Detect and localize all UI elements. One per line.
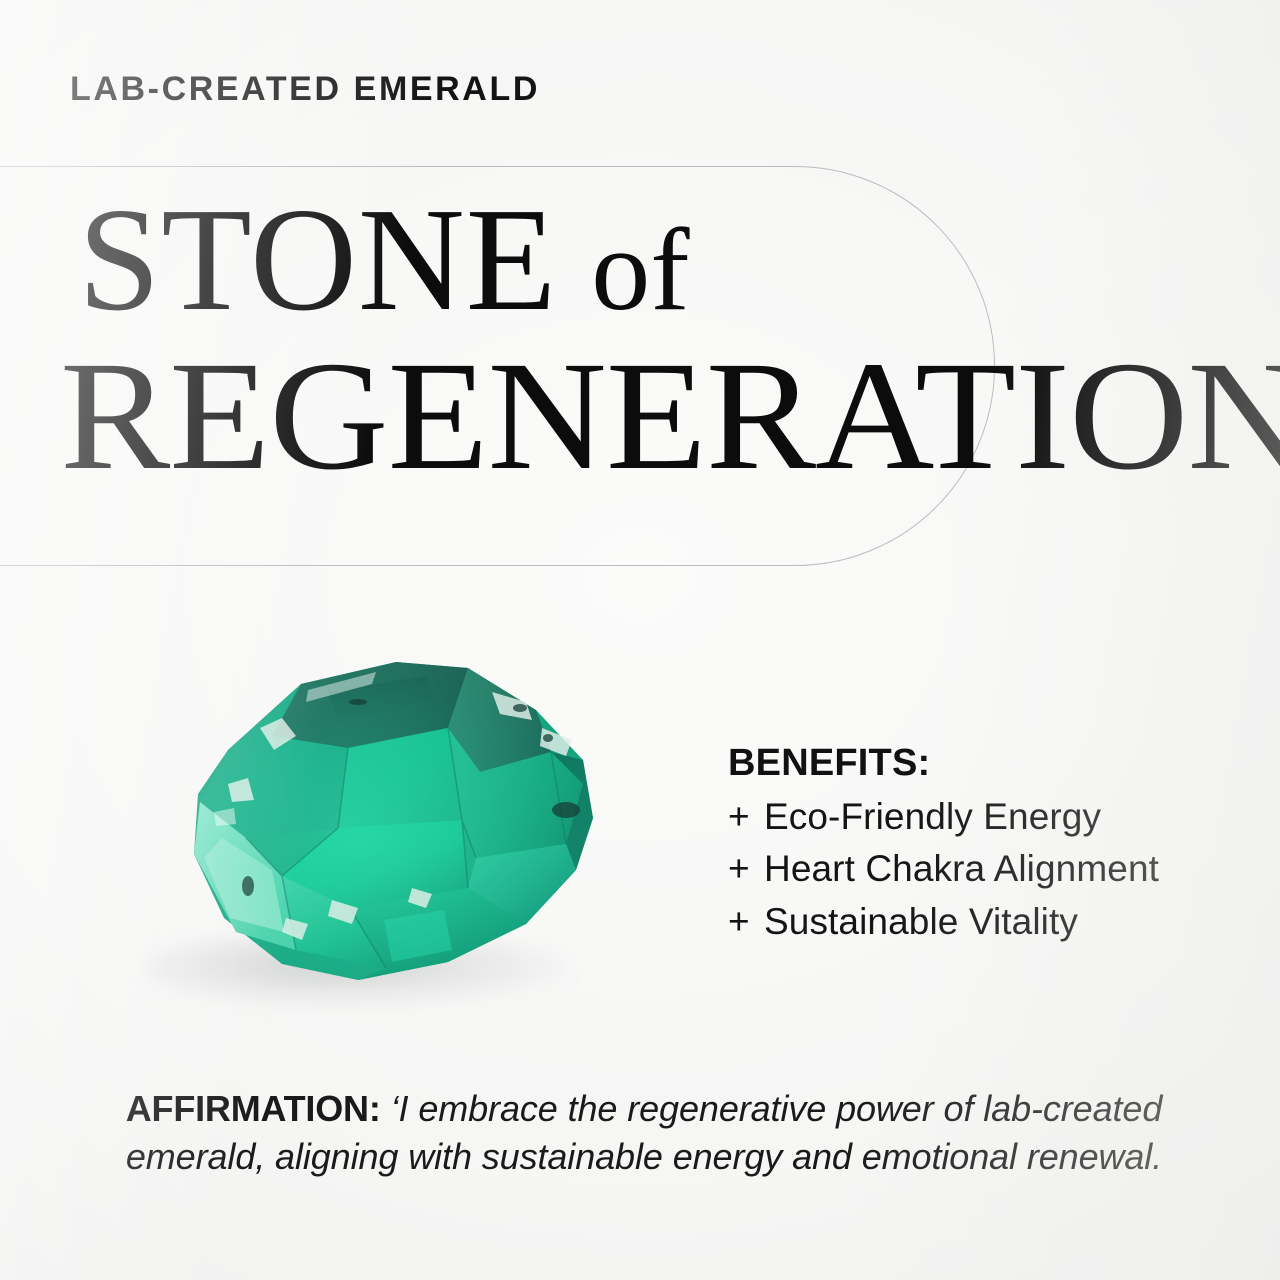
plus-icon: +: [728, 791, 764, 844]
benefits-heading: BENEFITS:: [728, 742, 1258, 785]
affirmation-label: AFFIRMATION:: [126, 1088, 381, 1129]
title-word-of: of: [557, 204, 689, 335]
plus-icon: +: [728, 843, 764, 896]
affirmation-section: AFFIRMATION: ‘I embrace the regenerative…: [64, 1085, 1224, 1180]
emerald-crystal-illustration: [96, 632, 616, 1002]
category-eyebrow: LAB-CREATED EMERALD: [70, 72, 540, 106]
benefits-section: BENEFITS: +Eco-Friendly Energy +Heart Ch…: [728, 742, 1258, 948]
benefit-label: Sustainable Vitality: [764, 901, 1078, 942]
poster-canvas: LAB-CREATED EMERALD STONEof REGENERATION: [0, 0, 1280, 1280]
plus-icon: +: [728, 896, 764, 949]
title-line-one: STONEof: [78, 186, 690, 334]
page-title: STONEof REGENERATION: [0, 186, 1280, 546]
stone-inner-glow: [194, 662, 593, 980]
gemstone-figure: [96, 632, 616, 1032]
benefit-label: Heart Chakra Alignment: [764, 848, 1159, 889]
benefit-label: Eco-Friendly Energy: [764, 796, 1101, 837]
list-item: +Heart Chakra Alignment: [728, 843, 1258, 896]
list-item: +Sustainable Vitality: [728, 896, 1258, 949]
list-item: +Eco-Friendly Energy: [728, 791, 1258, 844]
title-line-two: REGENERATION: [60, 338, 1280, 494]
title-word-stone: STONE: [78, 178, 557, 342]
